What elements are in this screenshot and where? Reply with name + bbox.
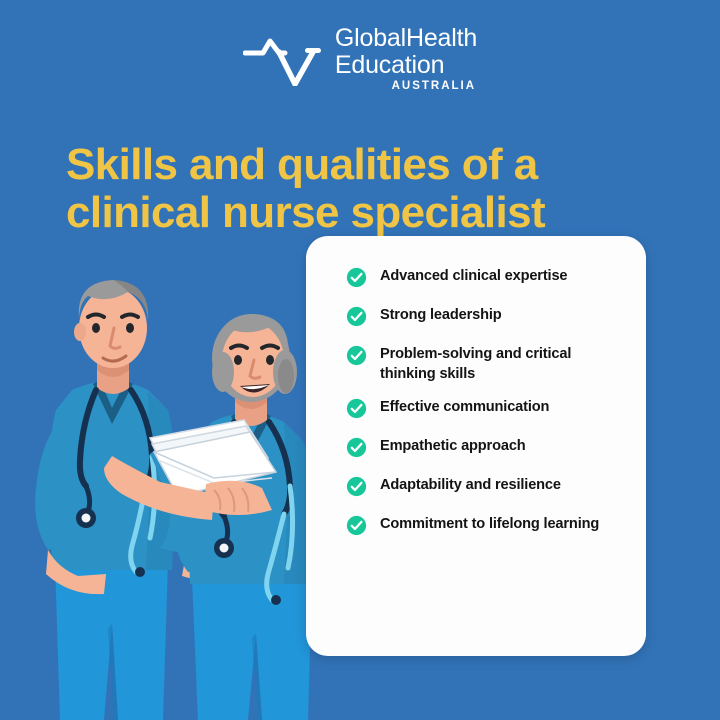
list-item: Adaptability and resilience xyxy=(346,475,618,497)
check-circle-icon xyxy=(346,476,367,497)
skills-card: Advanced clinical expertise Strong leade… xyxy=(306,236,646,656)
check-circle-icon xyxy=(346,515,367,536)
brand-logo: GlobalHealth Education AUSTRALIA xyxy=(0,26,720,96)
check-circle-icon xyxy=(346,437,367,458)
page-title: Skills and qualities of a clinical nurse… xyxy=(66,141,686,236)
list-item: Commitment to lifelong learning xyxy=(346,514,618,536)
list-item: Problem-solving and critical thinking sk… xyxy=(346,344,618,384)
page-title-line-1: Skills and qualities of a xyxy=(66,140,538,189)
check-circle-icon xyxy=(346,398,367,419)
skill-label: Effective communication xyxy=(380,397,549,417)
logo-line-2: Education xyxy=(335,53,444,78)
skill-label: Problem-solving and critical thinking sk… xyxy=(380,344,618,384)
check-circle-icon xyxy=(346,267,367,288)
list-item: Effective communication xyxy=(346,397,618,419)
skill-label: Commitment to lifelong learning xyxy=(380,514,599,534)
check-circle-icon xyxy=(346,345,367,366)
poster-canvas: GlobalHealth Education AUSTRALIA Skills … xyxy=(0,0,720,720)
skill-label: Adaptability and resilience xyxy=(380,475,561,495)
skills-list: Advanced clinical expertise Strong leade… xyxy=(346,266,618,549)
logo-subtitle: AUSTRALIA xyxy=(392,81,476,93)
list-item: Strong leadership xyxy=(346,305,618,327)
skill-label: Advanced clinical expertise xyxy=(380,266,567,286)
skill-label: Strong leadership xyxy=(380,305,502,325)
page-title-line-2: clinical nurse specialist xyxy=(66,189,686,237)
list-item: Advanced clinical expertise xyxy=(346,266,618,288)
heartbeat-pulse-icon xyxy=(243,28,329,86)
list-item: Empathetic approach xyxy=(346,436,618,458)
logo-line-1: GlobalHealth xyxy=(335,26,477,51)
check-circle-icon xyxy=(346,306,367,327)
skill-label: Empathetic approach xyxy=(380,436,526,456)
